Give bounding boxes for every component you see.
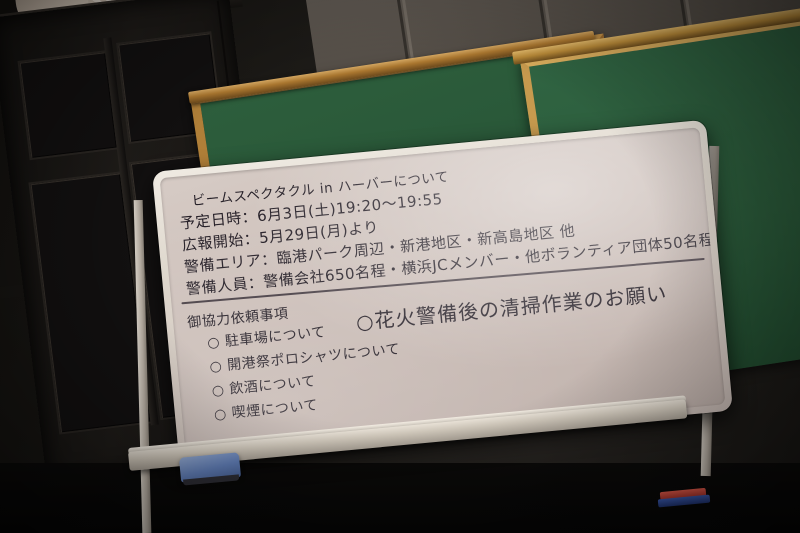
whiteboard-eraser[interactable] xyxy=(179,452,241,483)
whiteboard-bullet-smoking: ○ 喫煙について xyxy=(213,394,319,424)
photo-scene: ビームスペクタクル in ハーバーについて 予定日時：6月3日(土)19:20〜… xyxy=(0,0,800,533)
whiteboard-highlight-note: ○花火警備後の清掃作業のお願い xyxy=(355,277,669,335)
